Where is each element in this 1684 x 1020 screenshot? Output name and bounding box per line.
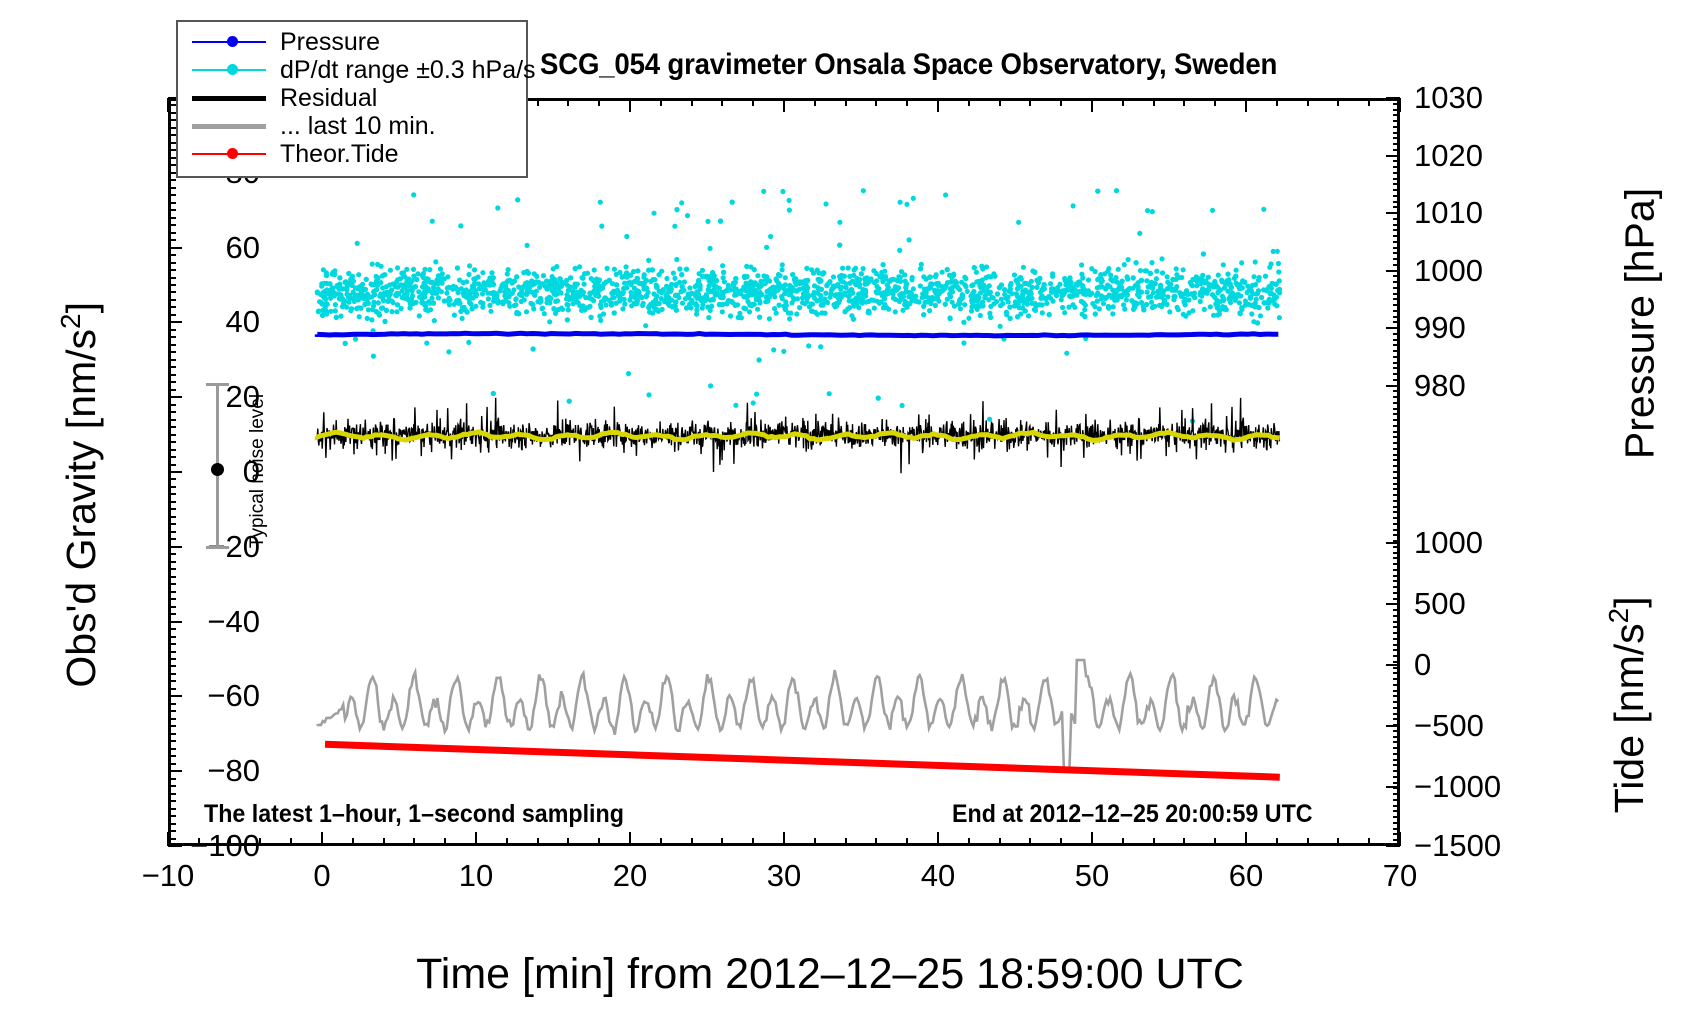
legend-symbol <box>188 88 270 108</box>
y-axis-tick <box>168 845 182 847</box>
y-axis-right-minor-tick <box>1393 189 1400 191</box>
x-axis-tick <box>660 838 662 846</box>
y-axis-right-minor-tick <box>1393 724 1400 726</box>
tide-title-text: Tide [nm/s <box>1606 623 1652 813</box>
y-axis-tick <box>168 785 176 787</box>
y-axis-tick <box>168 740 176 742</box>
y-axis-right-minor-tick <box>1393 540 1400 542</box>
y-axis-right-minor-tick <box>1393 373 1400 375</box>
y-axis-right-pressure-label: 1030 <box>1414 80 1483 116</box>
y-axis-right-minor-tick <box>1393 534 1400 536</box>
y-axis-tick <box>168 306 176 308</box>
y-axis-right-minor-tick <box>1393 327 1400 329</box>
y-axis-right-minor-tick <box>1393 523 1400 525</box>
y-axis-right-minor-tick <box>1393 828 1400 830</box>
y-axis-tick <box>168 793 176 795</box>
x-axis-tick <box>1183 838 1185 846</box>
y-axis-right-minor-tick <box>1393 425 1400 427</box>
y-axis-right-minor-tick <box>1393 557 1400 559</box>
y-axis-tick <box>168 613 176 615</box>
y-axis-right-minor-tick <box>1393 672 1400 674</box>
y-axis-tick <box>168 247 182 249</box>
y-axis-tick <box>168 621 182 623</box>
y-axis-right-minor-tick <box>1393 506 1400 508</box>
y-axis-right-tide-label: 500 <box>1414 586 1466 622</box>
x-axis-label: 30 <box>767 858 801 894</box>
y-axis-right-minor-tick <box>1393 408 1400 410</box>
y-axis-tick <box>168 404 176 406</box>
y-axis-right-pressure-label: 990 <box>1414 310 1466 346</box>
chart-page: SCG_054 gravimeter Onsala Space Observat… <box>0 0 1684 1020</box>
y-axis-tick <box>168 501 176 503</box>
x-axis-tick <box>629 98 631 112</box>
y-axis-right-minor-tick <box>1393 298 1400 300</box>
y-axis-left-title-text: Obs'd Gravity [nm/s <box>58 329 104 688</box>
y-axis-right-minor-tick <box>1393 477 1400 479</box>
y-axis-tick <box>168 284 176 286</box>
x-axis-label: 70 <box>1383 858 1417 894</box>
y-axis-right-minor-tick <box>1393 137 1400 139</box>
y-axis-right-minor-tick <box>1393 160 1400 162</box>
noise-level-cap-top <box>206 383 229 386</box>
x-axis-tick <box>691 98 693 106</box>
y-axis-tick <box>168 277 176 279</box>
y-axis-right-minor-tick <box>1393 333 1400 335</box>
x-axis-tick <box>629 832 631 846</box>
x-axis-tick <box>1153 98 1155 106</box>
y-axis-right-minor-tick <box>1393 247 1400 249</box>
y-axis-right-minor-tick <box>1393 183 1400 185</box>
y-axis-tick <box>168 112 176 114</box>
y-axis-right-minor-tick <box>1393 206 1400 208</box>
y-axis-right-minor-tick <box>1393 655 1400 657</box>
y-axis-right-minor-tick <box>1393 575 1400 577</box>
y-axis-tick <box>168 546 182 548</box>
x-axis-tick <box>845 838 847 846</box>
x-axis-title: Time [min] from 2012–12–25 18:59:00 UTC <box>330 950 1330 999</box>
x-axis-tick <box>537 838 539 846</box>
x-axis-tick <box>1245 832 1247 846</box>
legend-item-4: Theor.Tide <box>178 140 526 168</box>
y-axis-right-minor-tick <box>1393 344 1400 346</box>
y-axis-tick <box>168 239 176 241</box>
y-axis-tick <box>168 688 176 690</box>
x-axis-tick <box>1060 98 1062 106</box>
y-axis-right-minor-tick <box>1393 649 1400 651</box>
y-axis-tick <box>168 269 176 271</box>
y-axis-left-title-end: ] <box>58 302 104 313</box>
x-axis-tick <box>1337 98 1339 106</box>
y-axis-tick <box>168 456 176 458</box>
x-axis-tick <box>937 98 939 112</box>
y-axis-right-minor-tick <box>1393 764 1400 766</box>
y-axis-tick <box>168 119 176 121</box>
y-axis-tick <box>168 733 176 735</box>
x-axis-label: 60 <box>1229 858 1263 894</box>
y-axis-right-minor-tick <box>1393 483 1400 485</box>
y-axis-tick <box>168 531 176 533</box>
y-axis-tick <box>168 673 176 675</box>
y-axis-tick <box>168 359 176 361</box>
x-axis-tick <box>475 832 477 846</box>
y-axis-tick <box>168 142 176 144</box>
x-axis-tick <box>352 838 354 846</box>
x-axis-tick <box>875 98 877 106</box>
y-axis-right-minor-tick <box>1393 431 1400 433</box>
y-axis-right-minor-tick <box>1393 661 1400 663</box>
x-axis-tick <box>1276 838 1278 846</box>
y-axis-right-minor-tick <box>1393 753 1400 755</box>
y-axis-right-minor-tick <box>1393 471 1400 473</box>
x-axis-tick <box>1307 98 1309 106</box>
x-axis-tick <box>968 838 970 846</box>
x-axis-tick <box>1091 832 1093 846</box>
x-axis-tick <box>814 98 816 106</box>
y-axis-right-minor-tick <box>1393 178 1400 180</box>
y-axis-right-minor-tick <box>1393 822 1400 824</box>
x-axis-tick <box>413 838 415 846</box>
y-axis-right-tide-label: −500 <box>1414 708 1484 744</box>
y-axis-left-label: −80 <box>207 753 260 789</box>
noise-level-label: Typical noise level <box>247 381 269 561</box>
caption-left: The latest 1–hour, 1–second sampling <box>204 800 624 829</box>
y-axis-right-minor-tick <box>1393 252 1400 254</box>
y-axis-right-minor-tick <box>1393 776 1400 778</box>
plot-area <box>168 98 1400 846</box>
y-axis-right-minor-tick <box>1393 805 1400 807</box>
y-axis-tick <box>168 299 176 301</box>
y-axis-tick <box>168 179 176 181</box>
y-axis-right-minor-tick <box>1393 759 1400 761</box>
y-axis-right-minor-tick <box>1393 782 1400 784</box>
x-axis-label: 20 <box>613 858 647 894</box>
y-axis-right-minor-tick <box>1393 155 1400 157</box>
x-axis-tick <box>598 838 600 846</box>
legend-dot <box>227 148 238 159</box>
x-axis-tick <box>290 838 292 846</box>
y-axis-tick <box>168 561 176 563</box>
x-axis-tick <box>321 832 323 846</box>
y-axis-right-minor-tick <box>1393 218 1400 220</box>
y-axis-tick <box>168 202 176 204</box>
y-axis-right-minor-tick <box>1393 419 1400 421</box>
x-axis-tick <box>567 838 569 846</box>
y-axis-right-minor-tick <box>1393 402 1400 404</box>
y-axis-tick <box>168 508 176 510</box>
x-axis-tick <box>906 838 908 846</box>
x-axis-tick <box>1029 838 1031 846</box>
y-axis-tick <box>168 419 176 421</box>
y-axis-right-minor-tick <box>1393 235 1400 237</box>
y-axis-right-minor-tick <box>1393 442 1400 444</box>
y-axis-tick <box>168 695 182 697</box>
y-axis-right-tide-title: Tide [nm/s2] <box>1603 485 1653 925</box>
y-axis-tick <box>168 643 176 645</box>
y-axis-right-minor-tick <box>1393 598 1400 600</box>
y-axis-tick <box>168 838 176 840</box>
y-axis-tick <box>168 755 176 757</box>
y-axis-tick <box>168 636 176 638</box>
y-axis-right-minor-tick <box>1393 833 1400 835</box>
x-axis-tick <box>1368 838 1370 846</box>
y-axis-right-minor-tick <box>1393 120 1400 122</box>
y-axis-right-minor-tick <box>1393 787 1400 789</box>
y-axis-right-minor-tick <box>1393 229 1400 231</box>
y-axis-tick <box>168 703 176 705</box>
y-axis-right-pressure-label: 980 <box>1414 368 1466 404</box>
y-axis-right-minor-tick <box>1393 695 1400 697</box>
y-axis-tick <box>168 224 176 226</box>
y-axis-right-minor-tick <box>1393 166 1400 168</box>
y-axis-right-minor-tick <box>1393 264 1400 266</box>
dpdt-scatter-series <box>315 188 1282 440</box>
y-axis-tick <box>168 389 176 391</box>
y-axis-right-minor-tick <box>1393 114 1400 116</box>
x-axis-tick <box>1214 838 1216 846</box>
legend-item-0: Pressure <box>178 28 526 56</box>
y-axis-tick <box>168 344 176 346</box>
y-axis-tick <box>168 262 176 264</box>
y-axis-right-minor-tick <box>1393 644 1400 646</box>
y-axis-left-label: −60 <box>207 678 260 714</box>
y-axis-left-label: −100 <box>190 828 260 864</box>
y-axis-tick <box>168 232 176 234</box>
legend-item-3: ... last 10 min. <box>178 112 526 140</box>
legend-label: dP/dt range ±0.3 hPa/s <box>280 56 536 85</box>
y-axis-tick <box>168 583 176 585</box>
x-axis-tick <box>814 838 816 846</box>
y-axis-right-tide-label: −1500 <box>1414 828 1501 864</box>
x-axis-tick <box>506 838 508 846</box>
y-axis-right-minor-tick <box>1393 103 1400 105</box>
y-axis-right-minor-tick <box>1393 287 1400 289</box>
y-axis-right-minor-tick <box>1393 586 1400 588</box>
y-axis-tick <box>168 815 176 817</box>
y-axis-tick <box>168 808 176 810</box>
y-axis-right-minor-tick <box>1393 632 1400 634</box>
legend-line <box>192 96 266 101</box>
y-axis-right-minor-tick <box>1393 293 1400 295</box>
x-axis-tick <box>444 838 446 846</box>
y-axis-right-minor-tick <box>1393 367 1400 369</box>
legend-item-2: Residual <box>178 84 526 112</box>
y-axis-tick <box>168 329 176 331</box>
y-axis-tick <box>168 254 176 256</box>
x-axis-tick <box>721 838 723 846</box>
x-axis-label: 40 <box>921 858 955 894</box>
y-axis-tick <box>168 553 176 555</box>
x-axis-tick <box>383 838 385 846</box>
y-axis-tick <box>168 366 176 368</box>
y-axis-right-minor-tick <box>1393 690 1400 692</box>
y-axis-left-label: −40 <box>207 604 260 640</box>
x-axis-tick <box>1276 98 1278 106</box>
y-axis-tick <box>168 164 176 166</box>
legend-symbol <box>188 116 270 136</box>
y-axis-left-label: 60 <box>226 230 260 266</box>
y-axis-tick <box>168 104 176 106</box>
tide-title-sup: 2 <box>1603 608 1634 624</box>
legend-dot <box>227 64 238 75</box>
x-axis-tick <box>1337 838 1339 846</box>
y-axis-tick <box>168 336 176 338</box>
y-axis-right-minor-tick <box>1393 459 1400 461</box>
x-axis-tick <box>537 98 539 106</box>
legend-symbol <box>188 144 270 164</box>
y-axis-right-minor-tick <box>1393 390 1400 392</box>
y-axis-right-minor-tick <box>1393 172 1400 174</box>
y-axis-right-minor-tick <box>1393 667 1400 669</box>
x-axis-tick <box>1307 838 1309 846</box>
y-axis-right-minor-tick <box>1393 569 1400 571</box>
y-axis-right-minor-tick <box>1393 741 1400 743</box>
x-axis-label: −10 <box>142 858 195 894</box>
y-axis-right-minor-tick <box>1393 241 1400 243</box>
y-axis-right-minor-tick <box>1393 592 1400 594</box>
y-axis-right-minor-tick <box>1393 488 1400 490</box>
pressure-series <box>317 333 1278 336</box>
y-axis-tick <box>168 606 176 608</box>
y-axis-right-minor-tick <box>1393 810 1400 812</box>
y-axis-tick <box>168 710 176 712</box>
y-axis-right-minor-tick <box>1393 793 1400 795</box>
y-axis-tick <box>168 823 176 825</box>
legend-dot <box>227 36 238 47</box>
x-axis-tick <box>1245 98 1247 112</box>
y-axis-right-minor-tick <box>1393 270 1400 272</box>
x-axis-tick <box>875 838 877 846</box>
y-axis-tick <box>168 538 176 540</box>
y-axis-right-minor-tick <box>1393 494 1400 496</box>
chart-title: SCG_054 gravimeter Onsala Space Observat… <box>540 48 1277 82</box>
x-axis-label: 10 <box>459 858 493 894</box>
y-axis-right-minor-tick <box>1393 310 1400 312</box>
y-axis-right-minor-tick <box>1393 385 1400 387</box>
y-axis-tick <box>168 321 182 323</box>
legend: PressuredP/dt range ±0.3 hPa/sResidual..… <box>176 20 528 178</box>
y-axis-tick <box>168 374 176 376</box>
y-axis-tick <box>168 725 176 727</box>
y-axis-tick <box>168 187 176 189</box>
last-10-min-series <box>317 660 1278 770</box>
y-axis-tick <box>168 478 176 480</box>
y-axis-right-minor-tick <box>1393 275 1400 277</box>
y-axis-right-pressure-label: 1000 <box>1414 253 1483 289</box>
y-axis-tick <box>168 830 176 832</box>
y-axis-right-minor-tick <box>1393 684 1400 686</box>
y-axis-tick <box>168 763 176 765</box>
x-axis-tick <box>1214 98 1216 106</box>
y-axis-right-minor-tick <box>1393 396 1400 398</box>
y-axis-right-minor-tick <box>1393 546 1400 548</box>
y-axis-tick <box>168 718 176 720</box>
y-axis-right-tide-label: 1000 <box>1414 525 1483 561</box>
caption-right: End at 2012–12–25 20:00:59 UTC <box>952 800 1313 829</box>
x-axis-tick <box>783 98 785 112</box>
y-axis-tick <box>168 748 176 750</box>
y-axis-right-minor-tick <box>1393 845 1400 847</box>
x-axis-tick <box>845 98 847 106</box>
y-axis-right-minor-tick <box>1393 350 1400 352</box>
y-axis-right-pressure-label: 1020 <box>1414 138 1483 174</box>
y-axis-right-minor-tick <box>1393 747 1400 749</box>
y-axis-right-minor-tick <box>1393 517 1400 519</box>
y-axis-tick <box>168 665 176 667</box>
y-axis-tick <box>168 426 176 428</box>
y-axis-right-minor-tick <box>1393 621 1400 623</box>
y-axis-tick <box>168 217 176 219</box>
y-axis-right-tide-label: −1000 <box>1414 769 1501 805</box>
y-axis-right-minor-tick <box>1393 339 1400 341</box>
x-axis-tick <box>1029 98 1031 106</box>
y-axis-right-minor-tick <box>1393 356 1400 358</box>
y-axis-right-minor-tick <box>1393 580 1400 582</box>
y-axis-right-minor-tick <box>1393 839 1400 841</box>
y-axis-right-minor-tick <box>1393 132 1400 134</box>
legend-item-1: dP/dt range ±0.3 hPa/s <box>178 56 526 84</box>
y-axis-tick <box>168 493 176 495</box>
y-axis-right-minor-tick <box>1393 201 1400 203</box>
y-axis-right-minor-tick <box>1393 212 1400 214</box>
y-axis-tick <box>168 471 182 473</box>
y-axis-right-minor-tick <box>1393 224 1400 226</box>
tide-title-end: ] <box>1606 596 1652 607</box>
y-axis-tick <box>168 381 176 383</box>
y-axis-right-minor-tick <box>1393 362 1400 364</box>
y-axis-tick <box>168 127 176 129</box>
x-axis-tick <box>660 98 662 106</box>
y-axis-right-minor-tick <box>1393 316 1400 318</box>
x-axis-tick <box>1153 838 1155 846</box>
y-axis-tick <box>168 778 176 780</box>
y-axis-right-minor-tick <box>1393 816 1400 818</box>
legend-symbol <box>188 60 270 80</box>
y-axis-right-minor-tick <box>1393 713 1400 715</box>
legend-label: Theor.Tide <box>280 140 399 169</box>
y-axis-right-minor-tick <box>1393 143 1400 145</box>
y-axis-right-minor-tick <box>1393 678 1400 680</box>
y-axis-right-minor-tick <box>1393 321 1400 323</box>
y-axis-right-minor-tick <box>1393 638 1400 640</box>
x-axis-tick <box>1368 98 1370 106</box>
y-axis-right-minor-tick <box>1393 97 1400 99</box>
y-axis-right-minor-tick <box>1393 736 1400 738</box>
y-axis-right-minor-tick <box>1393 701 1400 703</box>
legend-label: Pressure <box>280 28 380 57</box>
y-axis-right-minor-tick <box>1393 109 1400 111</box>
y-axis-right-minor-tick <box>1393 603 1400 605</box>
y-axis-tick <box>168 628 176 630</box>
y-axis-tick <box>168 651 176 653</box>
y-axis-left-title: Obs'd Gravity [nm/s2] <box>55 195 105 795</box>
y-axis-tick <box>168 464 176 466</box>
x-axis-tick <box>999 838 1001 846</box>
y-axis-tick <box>168 351 176 353</box>
y-axis-tick <box>168 411 176 413</box>
x-axis-tick <box>783 832 785 846</box>
x-axis-tick <box>1122 838 1124 846</box>
y-axis-right-minor-tick <box>1393 563 1400 565</box>
y-axis-tick <box>168 516 176 518</box>
x-axis-tick <box>567 98 569 106</box>
legend-symbol <box>188 32 270 52</box>
y-axis-right-minor-tick <box>1393 448 1400 450</box>
y-axis-right-minor-tick <box>1393 195 1400 197</box>
y-axis-right-tide-label: 0 <box>1414 647 1431 683</box>
y-axis-right-minor-tick <box>1393 529 1400 531</box>
y-axis-right-minor-tick <box>1393 770 1400 772</box>
y-axis-right-minor-tick <box>1393 413 1400 415</box>
